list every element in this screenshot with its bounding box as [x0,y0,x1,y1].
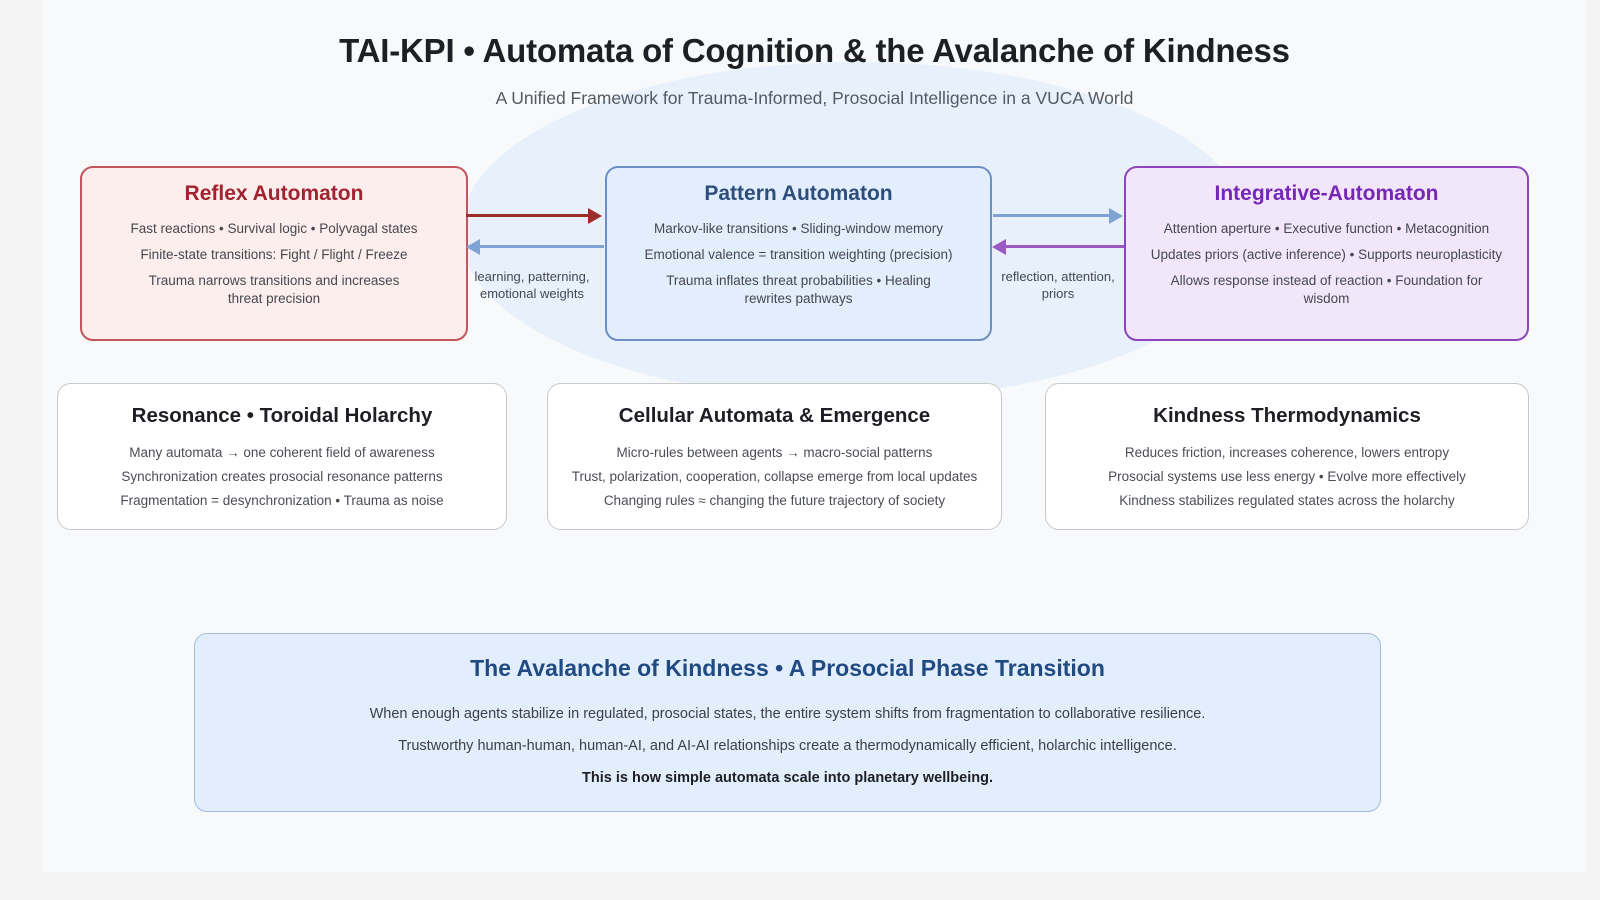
feature-card: Resonance • Toroidal Holarchy Many autom… [57,383,507,530]
automaton-line: Markov-like transitions • Sliding-window… [613,218,984,240]
banner-title: The Avalanche of Kindness • A Prosocial … [195,655,1380,682]
feature-card-line: Changing rules ≈ changing the future tra… [548,489,1001,513]
arrow-label-right: reflection, attention, priors [986,268,1130,302]
banner-line: Trustworthy human-human, human-AI, and A… [195,730,1380,762]
banner-line: When enough agents stabilize in regulate… [195,698,1380,730]
page-subtitle: A Unified Framework for Trauma-Informed,… [42,88,1587,109]
feature-card-line: Micro-rules between agents → macro-socia… [548,441,1001,465]
automaton-line: Trauma narrows transitions and increases… [144,272,404,308]
automaton-title-pattern: Pattern Automaton [607,182,990,206]
feature-card: Cellular Automata & Emergence Micro-rule… [547,383,1002,530]
arrow-integrative-to-pattern-line [1004,245,1124,248]
automaton-line: Allows response instead of reaction • Fo… [1167,272,1487,308]
automaton-line: Finite-state transitions: Fight / Flight… [88,244,460,266]
page-title: TAI-KPI • Automata of Cognition & the Av… [42,32,1587,70]
feature-card-line: Kindness stabilizes regulated states acr… [1046,489,1528,513]
automaton-title-integrative: Integrative-Automaton [1126,182,1527,206]
feature-card-line: Reduces friction, increases coherence, l… [1046,441,1528,465]
automaton-line: Fast reactions • Survival logic • Polyva… [88,218,460,240]
feature-card-title: Resonance • Toroidal Holarchy [58,404,506,428]
arrow-pattern-to-integrative-line [993,214,1115,217]
automaton-line: Attention aperture • Executive function … [1132,218,1521,240]
automaton-line: Trauma inflates threat probabilities • H… [649,272,949,308]
feature-card: Kindness Thermodynamics Reduces friction… [1045,383,1529,530]
banner-line-emphasis: This is how simple automata scale into p… [195,762,1380,794]
feature-card-title: Cellular Automata & Emergence [548,404,1001,428]
arrow-pattern-to-reflex-line [478,245,604,248]
automaton-line: Updates priors (active inference) • Supp… [1132,244,1521,266]
feature-card-line: Trust, polarization, cooperation, collap… [548,465,1001,489]
arrow-label-left: learning, patterning, emotional weights [460,268,604,302]
automaton-box-pattern: Pattern Automaton Markov-like transition… [605,166,992,341]
arrow-reflex-to-pattern-line [466,214,596,217]
arrow-integrative-to-pattern-head-icon [992,239,1006,255]
feature-card-line: Synchronization creates prosocial resona… [58,465,506,489]
automaton-title-reflex: Reflex Automaton [82,182,466,206]
feature-card-line: Fragmentation = desynchronization • Trau… [58,489,506,513]
automaton-box-integrative: Integrative-Automaton Attention aperture… [1124,166,1529,341]
feature-card-line: Prosocial systems use less energy • Evol… [1046,465,1528,489]
automaton-box-reflex: Reflex Automaton Fast reactions • Surviv… [80,166,468,341]
diagram-content: TAI-KPI • Automata of Cognition & the Av… [42,0,1587,872]
feature-card-line: Many automata → one coherent field of aw… [58,441,506,465]
conclusion-banner: The Avalanche of Kindness • A Prosocial … [194,633,1381,812]
arrow-reflex-to-pattern-head-icon [588,208,602,224]
feature-card-title: Kindness Thermodynamics [1046,404,1528,428]
diagram-page: TAI-KPI • Automata of Cognition & the Av… [42,0,1587,872]
automaton-line: Emotional valence = transition weighting… [613,244,984,266]
arrow-pattern-to-integrative-head-icon [1109,208,1123,224]
arrow-pattern-to-reflex-head-icon [466,239,480,255]
